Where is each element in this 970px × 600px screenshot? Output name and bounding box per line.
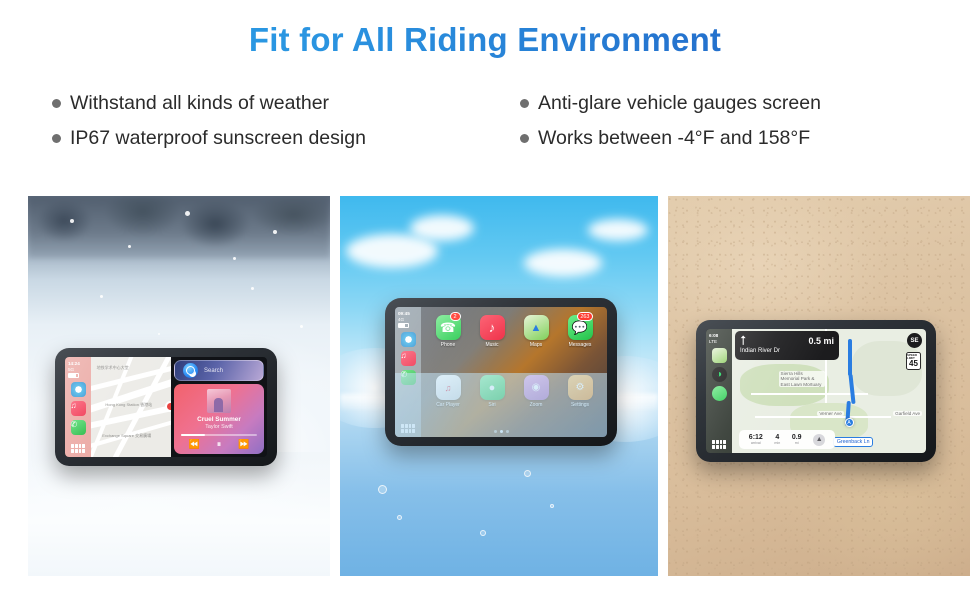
map-label: Exchange Square 交易廣場 <box>102 433 151 439</box>
car-player-icon: ♫ <box>436 375 461 400</box>
phone-icon: ☎ 2 <box>436 315 461 340</box>
widget-column: Search Cruel Summer Taylor Swift ⏪ ⏸ ⏩ <box>171 357 267 457</box>
eta-arrival: 6:12 arrival <box>749 434 763 445</box>
map-label: Hong Kong Station 香港站 <box>105 402 152 408</box>
distance-value: 0.5 mi <box>808 336 834 346</box>
feature-item: Withstand all kinds of weather <box>52 86 512 121</box>
app-label: Settings <box>565 402 595 408</box>
map-pin-icon <box>165 401 171 412</box>
app-label: Maps <box>521 342 551 348</box>
rewind-icon[interactable]: ⏪ <box>189 439 200 450</box>
app-tile[interactable]: ☎ 2 Phone <box>433 315 463 348</box>
track-title: Cruel Summer <box>197 416 241 423</box>
music-icon: ♪ <box>480 315 505 340</box>
page-title: Fit for All Riding Environment <box>0 21 970 59</box>
eta-duration: 4 min <box>774 434 780 445</box>
progress-bar[interactable] <box>181 434 257 436</box>
destination-label: Greenback Ln <box>833 437 874 447</box>
feature-item: Anti-glare vehicle gauges screen <box>520 86 932 121</box>
speed-limit-value: 45 <box>909 360 918 368</box>
feature-list: Withstand all kinds of weather IP67 wate… <box>52 86 932 156</box>
eta-value: 6:12 <box>749 434 763 441</box>
device-screen: 6:08 LTE ◑ <box>706 329 926 453</box>
map-panel[interactable]: 地铁学术中心大堂 Hong Kong Station 香港站 Exchange … <box>91 357 171 457</box>
whatsapp-icon[interactable]: ✆ <box>71 420 86 435</box>
feature-text: Anti-glare vehicle gauges screen <box>538 92 821 115</box>
carplay-device-water: 09:45 4G ♫ ✆ <box>385 298 617 446</box>
app-tile[interactable]: ◉ Zoom <box>521 375 551 408</box>
badge-count: 263 <box>577 312 592 321</box>
fast-forward-icon[interactable]: ⏩ <box>238 439 249 450</box>
eta-value: 4 <box>774 434 780 441</box>
carplay-sidebar: 6:08 LTE ◑ <box>706 329 732 453</box>
page-indicator[interactable] <box>395 430 607 433</box>
status-network: 4G <box>398 317 421 323</box>
street-name: Indian River Dr <box>740 348 834 354</box>
feature-item: Works between -4°F and 158°F <box>520 121 932 156</box>
eta-unit: arrival <box>749 441 763 445</box>
eta-bar[interactable]: 6:12 arrival 4 min 0.9 mi ▲ <box>739 430 835 449</box>
music-icon[interactable]: ♫ <box>401 351 416 366</box>
expand-icon[interactable]: ▲ <box>813 434 825 446</box>
carplay-device-snow: 14:24 5G ♫ ✆ <box>55 348 277 466</box>
feature-column-right: Anti-glare vehicle gauges screen Works b… <box>512 86 932 156</box>
app-tile[interactable]: ⚙ Settings <box>565 375 595 408</box>
carplay-sidebar: 09:45 4G ♫ ✆ <box>395 307 421 437</box>
photo-sand-scene: 6:08 LTE ◑ <box>668 196 970 576</box>
map-label: 地铁学术中心大堂 <box>97 365 129 371</box>
carplay-device-sand: 6:08 LTE ◑ <box>696 320 936 462</box>
carplay-sidebar: 14:24 5G ♫ ✆ <box>65 357 91 457</box>
whatsapp-icon[interactable]: ✆ <box>401 370 416 385</box>
bullet-dot-icon <box>520 99 529 108</box>
maps-icon[interactable] <box>712 348 727 363</box>
album-art <box>207 389 231 413</box>
navigation-map[interactable]: ⭡ 0.5 mi Indian River Dr SE SPEED LIMIT … <box>732 329 926 453</box>
device-screen: 09:45 4G ♫ ✆ <box>395 307 607 437</box>
maps-icon: ▲ <box>524 315 549 340</box>
search-icon <box>183 363 198 378</box>
phone-icon[interactable] <box>712 386 727 401</box>
position-marker: A <box>845 418 854 427</box>
feature-item: IP67 waterproof sunscreen design <box>52 121 512 156</box>
bullet-dot-icon <box>52 99 61 108</box>
feature-text: IP67 waterproof sunscreen design <box>70 127 366 150</box>
status-network: 5G <box>68 367 91 373</box>
app-label: Car Player <box>433 402 463 408</box>
maneuver-row: ⭡ 0.5 mi <box>740 334 834 347</box>
status-bar: 6:08 LTE <box>706 333 732 344</box>
app-tile[interactable]: ♪ Music <box>477 315 507 348</box>
search-label: Search <box>204 368 223 374</box>
app-grid: ☎ 2 Phone ♪ Music ▲ Maps <box>421 307 607 437</box>
speed-limit-sign: SPEED LIMIT 45 <box>906 352 921 370</box>
feature-text: Withstand all kinds of weather <box>70 92 329 115</box>
app-tile[interactable]: ▲ Maps <box>521 315 551 348</box>
status-bar: 09:45 4G <box>395 311 421 328</box>
app-list-icon[interactable] <box>712 440 726 449</box>
app-grid-icon[interactable] <box>71 444 85 453</box>
status-bar: 14:24 5G <box>65 361 91 378</box>
feature-text: Works between -4°F and 158°F <box>538 127 810 150</box>
photo-gallery: 14:24 5G ♫ ✆ <box>28 196 970 576</box>
navigation-banner: ⭡ 0.5 mi Indian River Dr <box>735 331 839 360</box>
compass-badge[interactable]: SE <box>907 333 922 348</box>
app-tile[interactable]: ♫ Car Player <box>433 375 463 408</box>
app-tile[interactable]: ● Siri <box>477 375 507 408</box>
map-label: Sierra Hills Memorial Park & East Lawn M… <box>779 371 825 387</box>
photo-snow-scene: 14:24 5G ♫ ✆ <box>28 196 330 576</box>
zoom-icon: ◉ <box>524 375 549 400</box>
eta-distance: 0.9 mi <box>792 434 802 445</box>
turn-left-icon: ⭡ <box>740 334 746 347</box>
feature-column-left: Withstand all kinds of weather IP67 wate… <box>52 86 512 156</box>
spotify-icon[interactable]: ◑ <box>712 367 727 382</box>
bullet-dot-icon <box>52 134 61 143</box>
bullet-dot-icon <box>520 134 529 143</box>
app-tile[interactable]: 💬 263 Messages <box>565 315 595 348</box>
app-label: Zoom <box>521 402 551 408</box>
music-icon[interactable]: ♫ <box>71 401 86 416</box>
track-artist: Taylor Swift <box>205 424 233 430</box>
app-label: Phone <box>433 342 463 348</box>
app-label: Music <box>477 342 507 348</box>
messages-icon: 💬 263 <box>568 315 593 340</box>
siri-icon: ● <box>480 375 505 400</box>
now-playing-widget[interactable]: Cruel Summer Taylor Swift ⏪ ⏸ ⏩ <box>174 384 264 454</box>
photo-water-scene: 09:45 4G ♫ ✆ <box>340 196 658 576</box>
status-network: LTE <box>709 339 732 345</box>
product-feature-banner: Fit for All Riding Environment Withstand… <box>0 0 970 600</box>
app-label: Messages <box>565 342 595 348</box>
eta-value: 0.9 <box>792 434 802 441</box>
search-widget[interactable]: Search <box>174 360 264 381</box>
pause-icon[interactable]: ⏸ <box>217 439 222 450</box>
badge-count: 2 <box>450 312 461 321</box>
map-label: Verner Ave <box>817 411 843 416</box>
map-label: Garfield Ave <box>893 411 922 416</box>
eta-unit: mi <box>792 441 802 445</box>
settings-icon: ⚙ <box>568 375 593 400</box>
eta-unit: min <box>774 441 780 445</box>
clock-icon[interactable] <box>71 382 86 397</box>
clock-icon[interactable] <box>401 332 416 347</box>
device-screen: 14:24 5G ♫ ✆ <box>65 357 267 457</box>
playback-controls: ⏪ ⏸ ⏩ <box>189 439 250 450</box>
app-label: Siri <box>477 402 507 408</box>
